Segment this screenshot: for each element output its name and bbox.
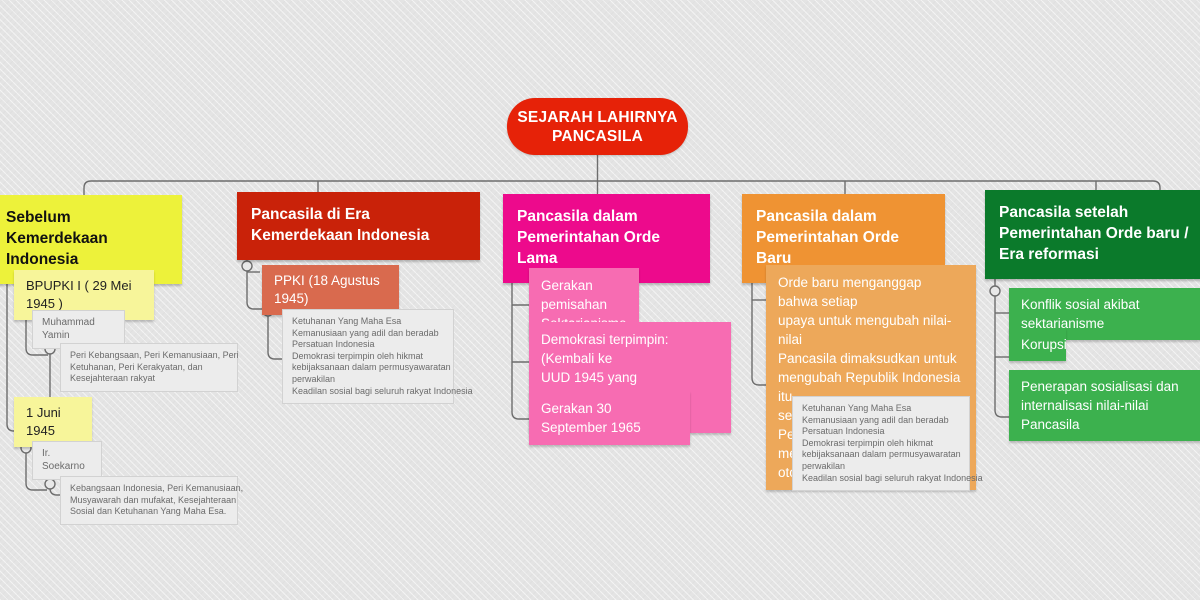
branch-era-reformasi[interactable]: Pancasila setelah Pemerintahan Orde baru… bbox=[985, 190, 1200, 279]
node-g30s-1965[interactable]: Gerakan 30 September 1965 bbox=[529, 391, 690, 445]
branch-title-line2: Pemerintahan Orde Baru bbox=[756, 229, 899, 267]
node-label: Ir. Soekarno bbox=[42, 448, 85, 472]
node-label: BPUPKI I ( 29 Mei 1945 ) bbox=[26, 278, 131, 311]
branch-title-line2: Indonesia bbox=[357, 227, 429, 244]
root-node[interactable]: SEJARAH LAHIRNYA PANCASILA bbox=[507, 98, 688, 155]
branch-title-line1: Pancasila dalam bbox=[517, 208, 638, 225]
branch-title-line1: Pancasila setelah bbox=[999, 204, 1128, 221]
node-korupsi[interactable]: Korupsi bbox=[1009, 328, 1066, 361]
branch-title-line2: Pemerintahan Orde baru / bbox=[999, 225, 1189, 242]
node-label: Muhammad Yamin bbox=[42, 317, 95, 341]
note-yamin-usulan: Peri Kebangsaan, Peri Kemanusiaan, Peri … bbox=[60, 343, 238, 392]
branch-title-line1: Pancasila di Era Kemerdekaan bbox=[251, 206, 370, 244]
branch-title-line2: Indonesia bbox=[6, 251, 78, 268]
node-ir-soekarno[interactable]: Ir. Soekarno bbox=[32, 441, 102, 480]
branch-title-line1: Sebelum Kemerdekaan bbox=[6, 209, 108, 247]
root-title-line2: PANCASILA bbox=[517, 127, 677, 146]
branch-title-line2: Pemerintahan Orde Lama bbox=[517, 229, 660, 267]
node-penerapan-sosialisasi[interactable]: Penerapan sosialisasi dan internalisasi … bbox=[1009, 370, 1200, 441]
note-soekarno-usulan: Kebangsaan Indonesia, Peri Kemanusiaan, … bbox=[60, 476, 238, 525]
node-ppki[interactable]: PPKI (18 Agustus 1945) bbox=[262, 265, 399, 315]
node-label: 1 Juni 1945 bbox=[26, 405, 61, 438]
root-title-line1: SEJARAH LAHIRNYA bbox=[517, 108, 677, 127]
note-orde-baru-sila: Ketuhanan Yang Maha Esa Kemanusiaan yang… bbox=[792, 396, 970, 491]
node-1-juni-1945[interactable]: 1 Juni 1945 bbox=[14, 397, 92, 447]
branch-title-line1: Pancasila dalam bbox=[756, 208, 877, 225]
node-label: PPKI (18 Agustus 1945) bbox=[274, 273, 380, 306]
mindmap-canvas: SEJARAH LAHIRNYA PANCASILA Sebelum Kemer… bbox=[0, 0, 1200, 600]
branch-era-kemerdekaan[interactable]: Pancasila di Era Kemerdekaan Indonesia bbox=[237, 192, 480, 260]
note-ppki-sila: Ketuhanan Yang Maha Esa Kemanusiaan yang… bbox=[282, 309, 454, 404]
branch-title-line3: Era reformasi bbox=[999, 246, 1099, 263]
